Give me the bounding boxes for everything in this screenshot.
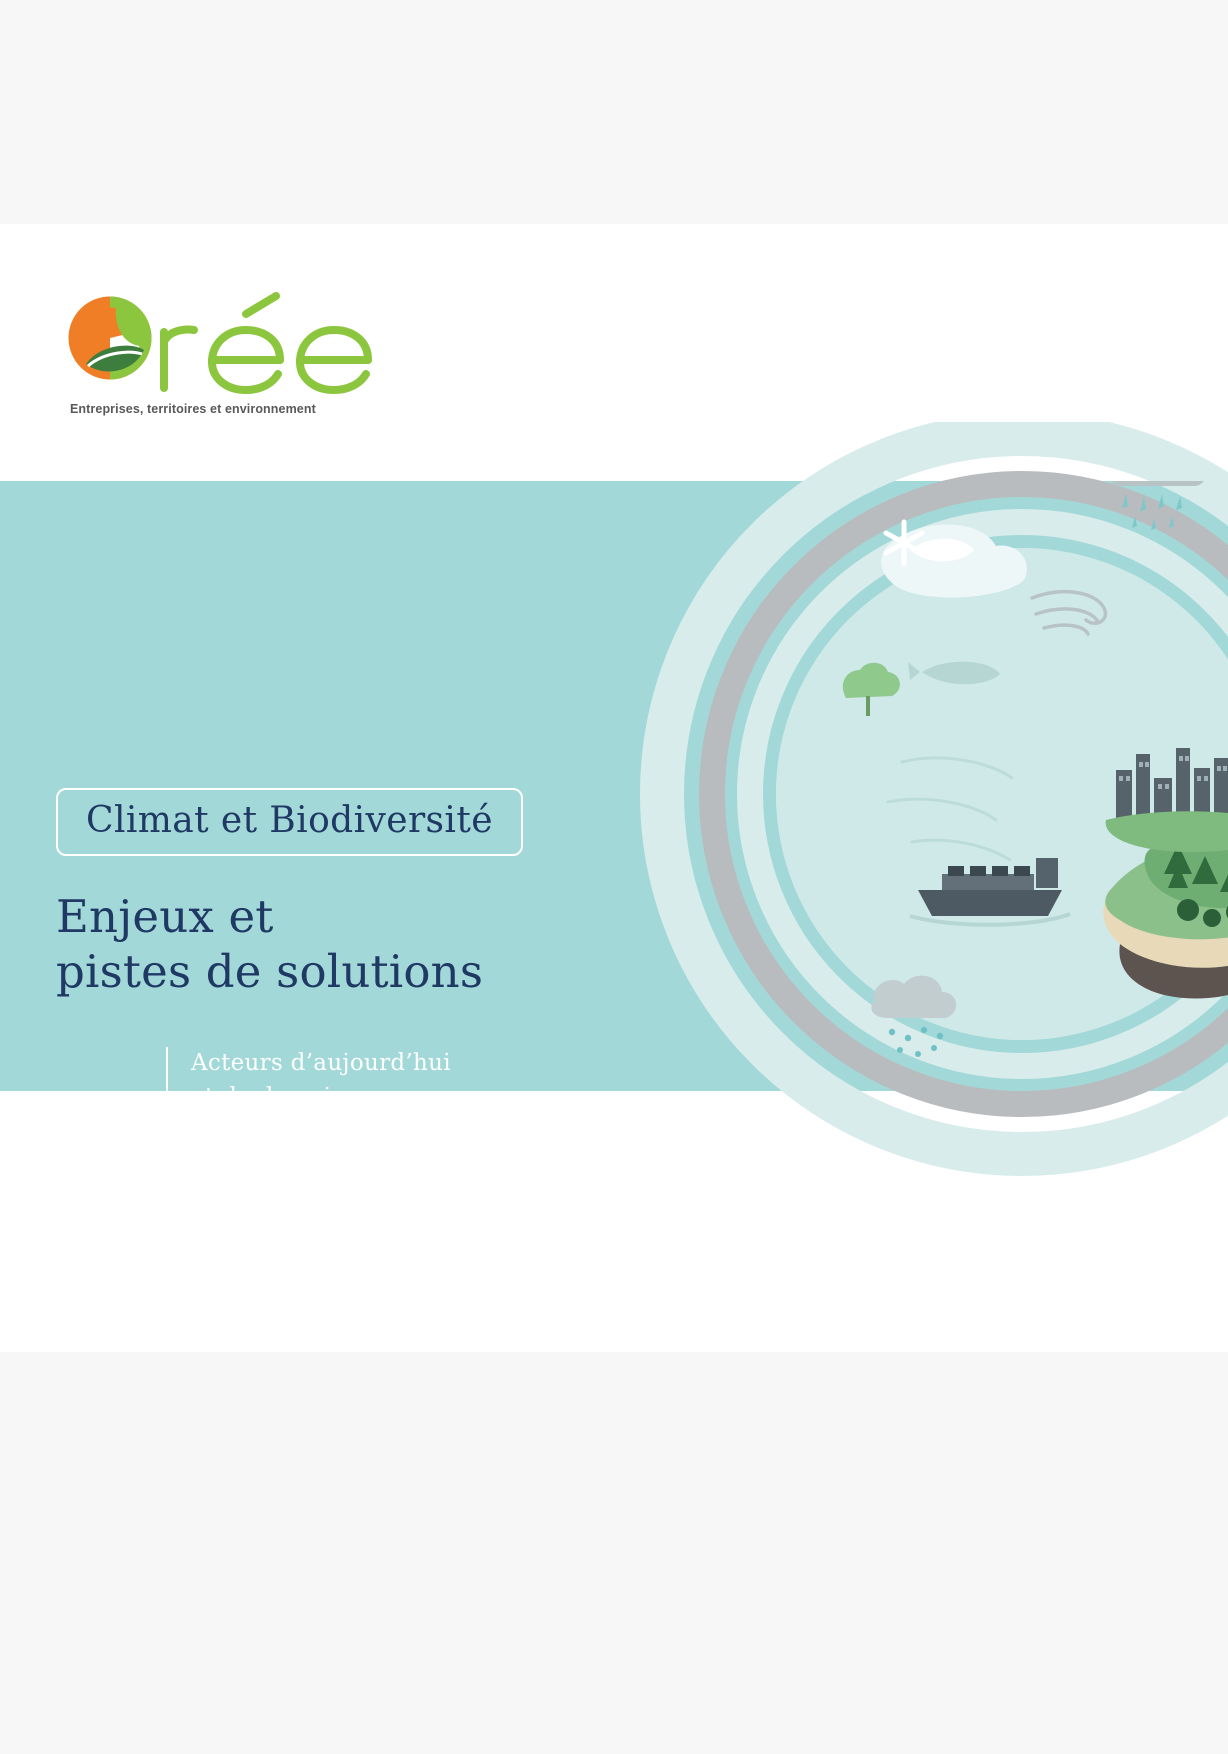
cover-sheet: Entreprises, territoires et environnemen… xyxy=(0,224,1228,1352)
page-root: Entreprises, territoires et environnemen… xyxy=(0,0,1228,1754)
headline-line-1: Enjeux et xyxy=(56,890,483,945)
page-bottom-margin xyxy=(0,1352,1228,1754)
subtitle-vertical-rule xyxy=(166,1047,168,1215)
series-label: Climat et Biodiversité xyxy=(86,803,493,839)
subtitle-line-5: et de la biodiversité xyxy=(191,1181,451,1215)
cover-headline: Enjeux et pistes de solutions xyxy=(56,890,483,1000)
series-label-box: Climat et Biodiversité xyxy=(56,788,523,856)
headline-line-2: pistes de solutions xyxy=(56,945,483,1000)
oree-logo: Entreprises, territoires et environnemen… xyxy=(48,272,388,442)
subtitle-line-1: Acteurs d’aujourd’hui xyxy=(191,1047,451,1081)
cover-subtitle: Acteurs d’aujourd’hui et de demain à la … xyxy=(166,1047,451,1215)
subtitle-text: Acteurs d’aujourd’hui et de demain à la … xyxy=(191,1047,451,1215)
oree-tagline: Entreprises, territoires et environnemen… xyxy=(70,402,316,416)
subtitle-line-4: des enjeux du climat xyxy=(191,1148,451,1182)
page-top-margin xyxy=(0,0,1228,224)
subtitle-line-3: à la croisée xyxy=(191,1114,451,1148)
oree-logo-mark xyxy=(48,272,388,412)
subtitle-line-2: et de demain xyxy=(191,1081,451,1115)
